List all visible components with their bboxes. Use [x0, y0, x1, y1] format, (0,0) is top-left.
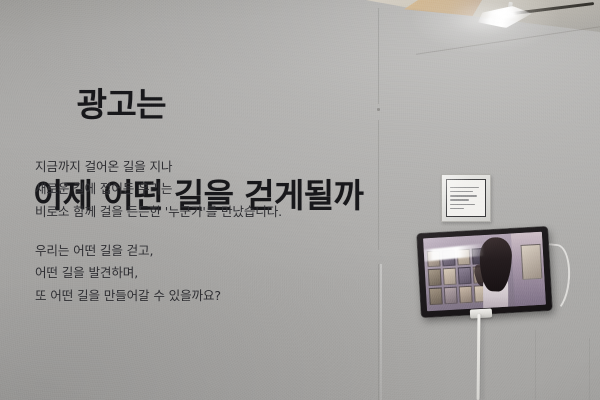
wall-panel-seam	[378, 120, 379, 250]
wall-mounted-tablet[interactable]	[417, 226, 552, 317]
wall-panel-seam	[589, 338, 590, 400]
video-right-wall	[511, 232, 546, 307]
video-frame-item	[428, 269, 442, 286]
placard-line	[450, 204, 475, 206]
power-cable-shadow	[481, 316, 484, 400]
photo-scene: 광고는 이제 어떤 길을 걷게될까 지금까지 걸어온 길을 지나 새로운 길에 …	[0, 0, 600, 400]
placard-line	[450, 191, 473, 193]
video-frame-item	[458, 267, 472, 284]
placard-line	[450, 199, 469, 201]
wall-paragraph-1: 지금까지 걸어온 길을 지나 새로운 길에 접어든 우리는 비로소 함께 걸을 …	[35, 156, 282, 223]
wall-panel-seam	[535, 330, 536, 400]
ceiling-light-core	[494, 10, 516, 18]
video-framed-artwork	[520, 244, 542, 281]
video-frame-item	[443, 268, 457, 285]
headline-line-1: 광고는	[77, 85, 166, 124]
wall-panel-seam	[378, 264, 379, 400]
tablet-screen[interactable]	[423, 232, 546, 312]
video-frame-item	[429, 287, 443, 304]
placard-line	[450, 195, 477, 197]
wall-paragraph-2: 우리는 어떤 길을 걷고, 어떤 길을 발견하며, 또 어떤 길을 만들어갈 수…	[35, 240, 221, 307]
placard-line	[450, 187, 479, 189]
wall-panel-seam	[378, 8, 379, 104]
placard-line	[450, 208, 464, 210]
video-frame-item	[444, 287, 458, 304]
placard-text-lines	[450, 184, 482, 212]
placard-mat	[446, 179, 486, 217]
wall-seam-dot	[377, 108, 380, 111]
video-frame-item	[459, 286, 473, 303]
wall-placard	[441, 174, 491, 222]
wall-seam-highlight	[380, 264, 382, 400]
